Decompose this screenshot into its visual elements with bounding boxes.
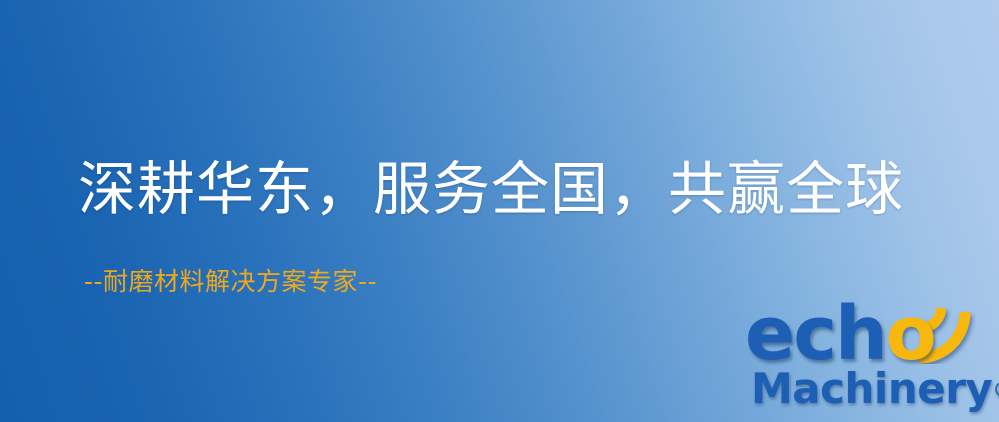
banner-headline: 深耕华东，服务全国，共赢全球	[78, 157, 904, 221]
echo-machinery-logo[interactable]: echo Machinery®	[745, 288, 999, 422]
logo-tagline-row: Machinery®	[751, 366, 999, 413]
registered-trademark-icon: ®	[992, 378, 999, 402]
logo-wordmark: echo	[745, 298, 999, 370]
promo-banner: 深耕华东，服务全国，共赢全球 --耐磨材料解决方案专家-- echo Machi…	[0, 0, 999, 422]
logo-tagline: Machinery	[751, 364, 992, 413]
banner-subtitle: --耐磨材料解决方案专家--	[84, 267, 377, 297]
